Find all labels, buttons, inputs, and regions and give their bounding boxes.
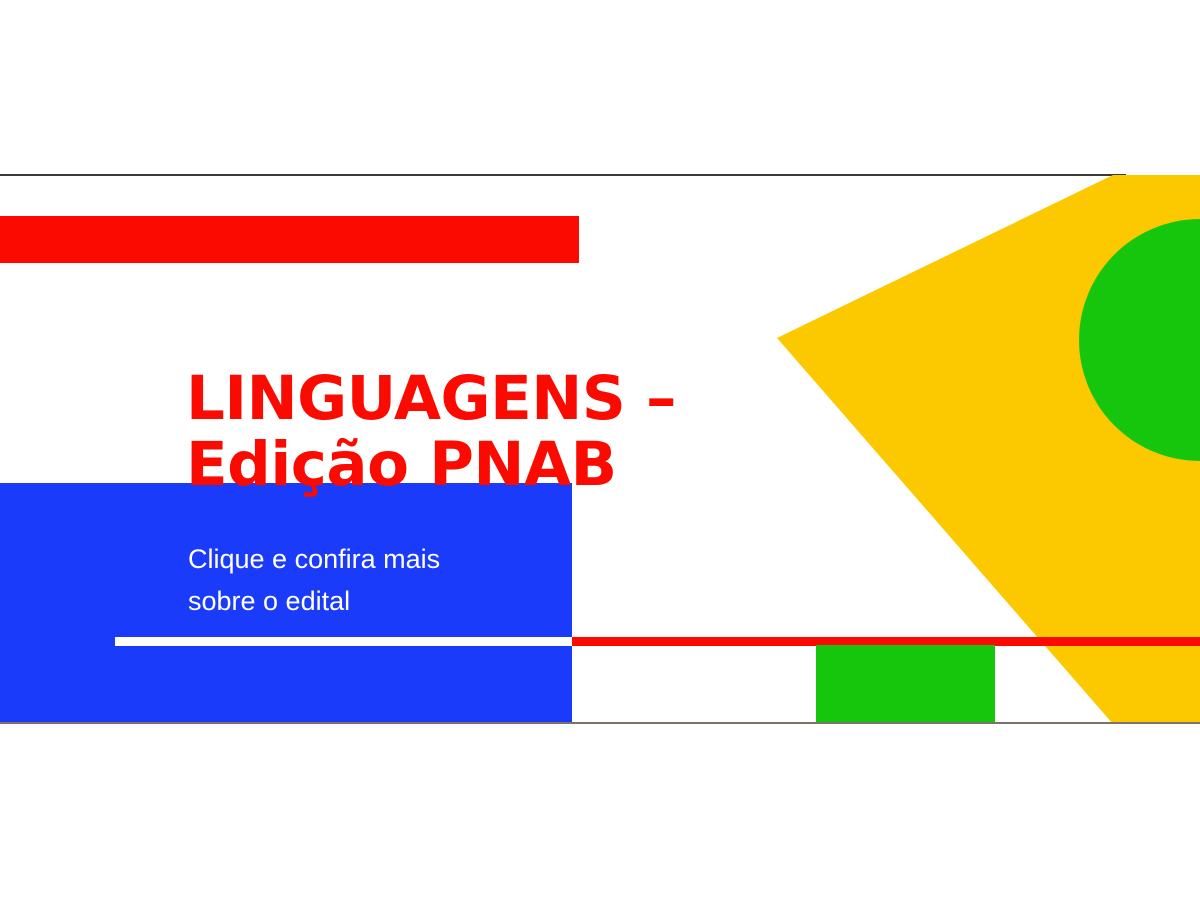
white-divider-rule <box>115 637 573 646</box>
call-to-action-text[interactable]: Clique e confira mais sobre o edital <box>188 539 568 623</box>
promo-banner[interactable]: LINGUAGENS – Edição PNAB Clique e confir… <box>0 0 1200 902</box>
page-title: LINGUAGENS – Edição PNAB <box>186 366 786 498</box>
green-block <box>816 645 995 723</box>
bottom-divider-rule <box>0 722 1200 724</box>
red-bar-top <box>0 216 579 263</box>
